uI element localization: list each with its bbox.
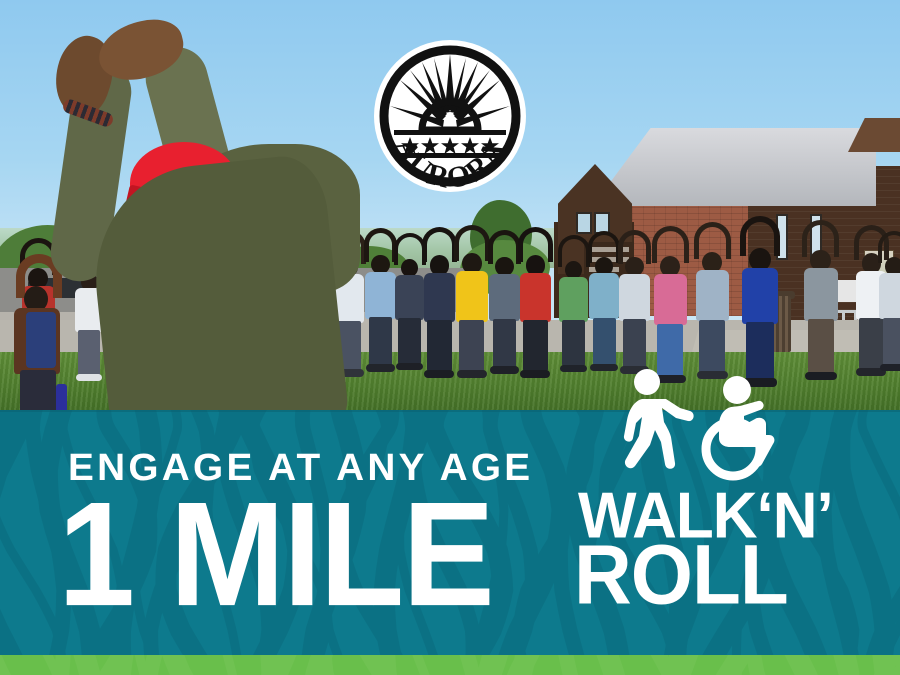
participant-shoes xyxy=(880,364,900,371)
poster: AURORA ENGAGE AT A xyxy=(0,0,900,675)
participant-shoes xyxy=(457,370,488,378)
participant-legs xyxy=(459,320,484,372)
participant-shoes xyxy=(560,365,587,372)
aurora-city-logo: AURORA xyxy=(374,26,526,206)
participant-torso xyxy=(520,273,552,322)
walking-person-icon xyxy=(624,369,694,469)
participant-legs xyxy=(623,319,647,368)
participant-legs xyxy=(808,319,834,374)
participant-legs xyxy=(493,319,517,368)
participant-legs xyxy=(523,320,548,371)
participant-legs xyxy=(562,320,584,366)
participant xyxy=(876,252,900,375)
building-window xyxy=(576,212,592,234)
accessibility-pictograms xyxy=(620,366,800,486)
participant-legs xyxy=(593,318,616,366)
participant-torso xyxy=(804,268,838,321)
headline-secondary-line2: ROLL xyxy=(574,533,788,617)
green-footer-band xyxy=(0,655,900,675)
participant-torso xyxy=(879,273,900,319)
participant-legs xyxy=(427,320,452,371)
participant-torso xyxy=(619,274,649,321)
participant-shoes xyxy=(490,366,519,374)
participant xyxy=(516,250,555,382)
participant-shoes xyxy=(424,370,454,378)
participant-shoes xyxy=(590,364,618,371)
participant-torso xyxy=(559,277,588,322)
participant-legs xyxy=(369,317,393,366)
participant-torso xyxy=(424,273,456,322)
participant-torso xyxy=(742,268,778,324)
participant-legs xyxy=(883,318,900,366)
participant xyxy=(800,244,841,385)
participant-torso xyxy=(456,271,488,321)
participant xyxy=(616,252,653,378)
headline-main: 1 MILE xyxy=(58,480,493,628)
participant-torso xyxy=(85,152,350,418)
green-band-wave-pattern xyxy=(0,655,900,675)
participant-torso xyxy=(654,274,687,326)
participant-legs xyxy=(699,320,725,373)
participant-shoes xyxy=(805,372,837,380)
foreground-participant xyxy=(20,14,350,418)
participant-torso xyxy=(589,273,619,319)
participant-shoes xyxy=(520,370,550,378)
participant-shoes xyxy=(366,364,395,372)
wheelchair-person-icon xyxy=(706,376,774,476)
participant-legs xyxy=(398,318,420,364)
participant-torso xyxy=(696,270,729,322)
participant xyxy=(692,246,732,384)
